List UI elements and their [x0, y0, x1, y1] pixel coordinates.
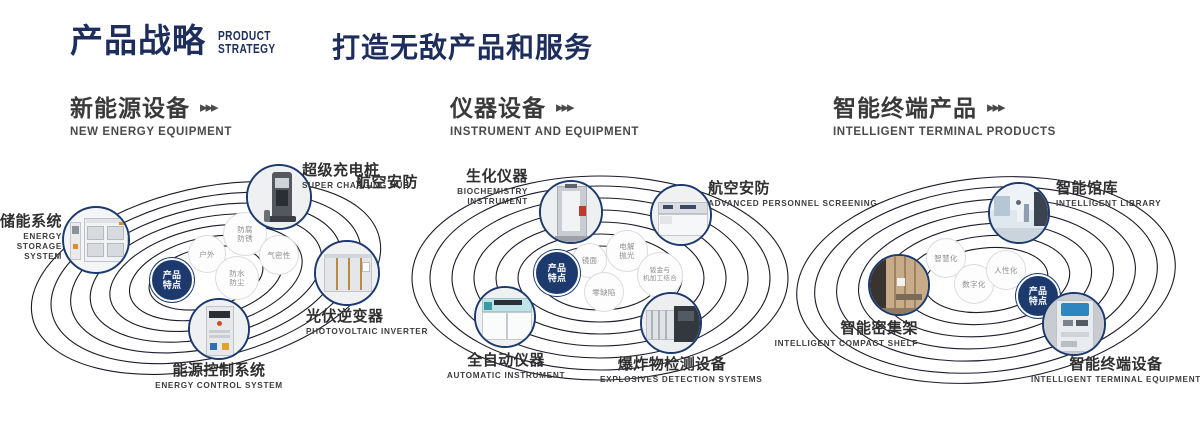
intelligent-compact-shelf-photo [870, 256, 928, 314]
caption-energy-control-system: 能源控制系统 ENERGY CONTROL SYSTEM [138, 362, 300, 391]
cluster-instrument: 镜面 电解 抛光 钣金与 机加工结合 零缺陷 产品特点 生化仪器 BIOCHEM… [400, 150, 800, 410]
chevrons-right-icon: ▸▸▸ [987, 95, 1004, 121]
energy-storage-system-photo [64, 208, 128, 272]
caption-en: INTELLIGENT TERMINAL EQUIPMENT [1030, 375, 1200, 385]
page-title-english-line2: STRATEGY [218, 42, 276, 55]
caption-en: ENERGY CONTROL SYSTEM [138, 381, 300, 391]
caption-en: AUTOMATIC INSTRUMENT [433, 371, 579, 381]
node-intelligent-library[interactable] [988, 182, 1050, 244]
caption-automatic-instrument: 全自动仪器 AUTOMATIC INSTRUMENT [433, 352, 579, 381]
product-strategy-infographic: 产品战略 PRODUCT STRATEGY 打造无敌产品和服务 新能源设备 ▸▸… [0, 0, 1200, 422]
caption-cn: 爆炸物检测设备 [600, 356, 744, 373]
node-automatic-instrument[interactable] [474, 286, 536, 348]
feature-bubble: 钣金与 机加工结合 [637, 252, 683, 298]
caption-en: ENERGY STORAGE SYSTEM [0, 232, 62, 262]
page-title-english: PRODUCT STRATEGY [218, 29, 276, 55]
section-title-intelligent-terminal: 智能终端产品 ▸▸▸ INTELLIGENT TERMINAL PRODUCTS [833, 95, 1056, 138]
section-title-instrument-cn: 仪器设备 [450, 95, 546, 121]
cluster-intelligent-terminal: 智慧化 数字化 人性化 产品特点 智能馆库 INTELLIGENT LIBRAR… [790, 150, 1190, 410]
feature-bubble: 防水 防尘 [215, 256, 259, 300]
feature-bubble: 气密性 [259, 235, 299, 275]
node-energy-control-system[interactable] [188, 298, 250, 360]
chevrons-right-icon: ▸▸▸ [200, 95, 217, 121]
node-explosives-detection[interactable] [640, 292, 702, 354]
core-bubble-product-features: 产品特点 [534, 250, 580, 296]
node-personnel-screening[interactable] [650, 184, 712, 246]
caption-intelligent-terminal-equipment: 智能终端设备 INTELLIGENT TERMINAL EQUIPMENT [1030, 356, 1200, 385]
caption-cn: 储能系统 [0, 213, 62, 230]
caption-aviation-security-extra: 航空安防 [308, 174, 418, 191]
page-header: 产品战略 PRODUCT STRATEGY [70, 24, 292, 57]
caption-en: EXPLOSIVES DETECTION SYSTEMS [600, 375, 744, 385]
caption-cn: 全自动仪器 [433, 352, 579, 369]
caption-cn: 智能密集架 [750, 320, 918, 337]
node-biochemistry-instrument[interactable] [539, 180, 603, 244]
section-title-instrument-en: INSTRUMENT AND EQUIPMENT [450, 126, 639, 138]
section-title-new-energy-cn: 新能源设备 [70, 95, 190, 121]
caption-en: INTELLIGENT COMPACT SHELF [750, 339, 918, 349]
caption-intelligent-compact-shelf: 智能密集架 INTELLIGENT COMPACT SHELF [750, 320, 918, 349]
caption-cn: 能源控制系统 [138, 362, 300, 379]
caption-explosives-detection: 爆炸物检测设备 EXPLOSIVES DETECTION SYSTEMS [600, 356, 744, 385]
caption-cn: 航空安防 [308, 174, 418, 191]
explosives-detection-photo [642, 294, 700, 352]
core-bubble-product-features: 产品特点 [150, 258, 194, 302]
section-title-instrument: 仪器设备 ▸▸▸ INSTRUMENT AND EQUIPMENT [450, 95, 639, 138]
node-energy-storage-system[interactable] [62, 206, 130, 274]
caption-energy-storage-system: 储能系统 ENERGY STORAGE SYSTEM [0, 213, 62, 262]
section-title-new-energy: 新能源设备 ▸▸▸ NEW ENERGY EQUIPMENT [70, 95, 232, 138]
photovoltaic-inverter-photo [316, 242, 378, 304]
intelligent-terminal-photo [1044, 294, 1104, 354]
caption-cn: 智能馆库 [1056, 180, 1161, 197]
biochemistry-instrument-photo [541, 182, 601, 242]
page-subtitle: 打造无敌产品和服务 [332, 34, 593, 62]
node-intelligent-terminal-equipment[interactable] [1042, 292, 1106, 356]
node-photovoltaic-inverter[interactable] [314, 240, 380, 306]
automatic-instrument-photo [476, 288, 534, 346]
section-title-intelligent-terminal-en: INTELLIGENT TERMINAL PRODUCTS [833, 126, 1056, 138]
intelligent-library-photo [990, 184, 1048, 242]
feature-bubble: 零缺陷 [584, 272, 624, 312]
caption-en: INTELLIGENT LIBRARY [1056, 199, 1161, 209]
chevrons-right-icon: ▸▸▸ [556, 95, 573, 121]
section-title-new-energy-en: NEW ENERGY EQUIPMENT [70, 126, 232, 138]
super-charging-hub-photo [248, 166, 310, 228]
section-title-intelligent-terminal-cn: 智能终端产品 [833, 95, 977, 121]
caption-cn: 智能终端设备 [1030, 356, 1200, 373]
node-intelligent-compact-shelf[interactable] [868, 254, 930, 316]
energy-control-system-photo [190, 300, 248, 358]
caption-intelligent-library: 智能馆库 INTELLIGENT LIBRARY [1056, 180, 1161, 209]
page-title: 产品战略 [70, 24, 206, 57]
personnel-screening-photo [652, 186, 710, 244]
